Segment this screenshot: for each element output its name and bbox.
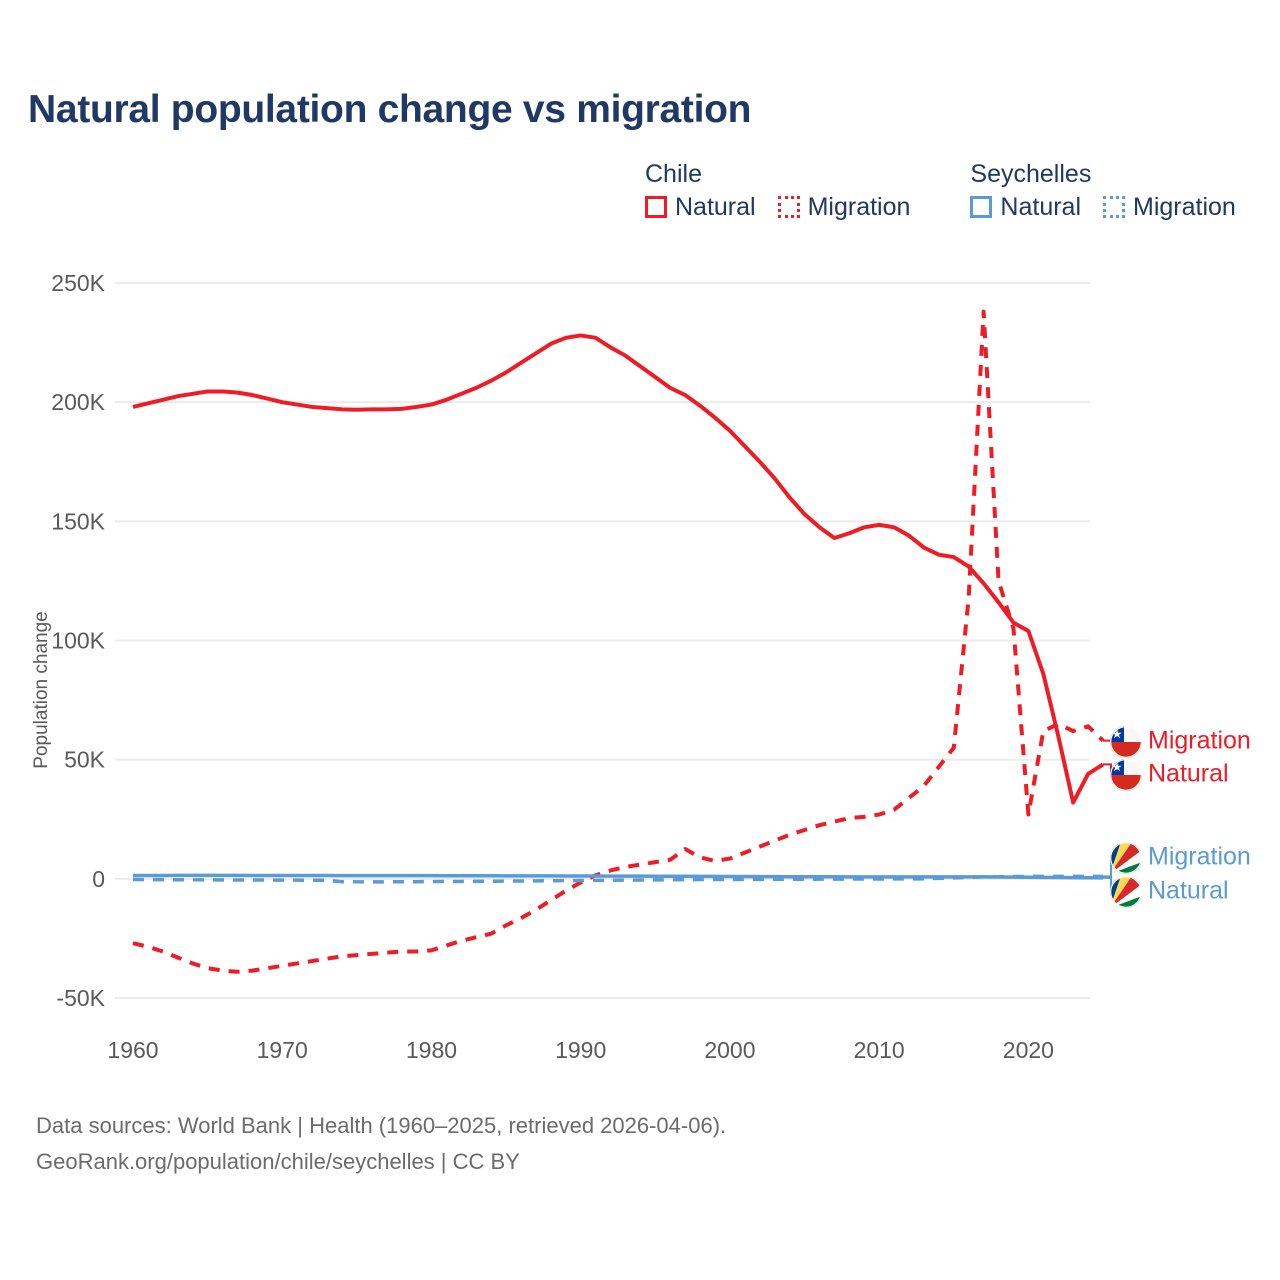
y-axis-tick-label: 250K bbox=[51, 270, 105, 296]
y-axis-title: Population change bbox=[31, 611, 52, 768]
y-axis-tick-label: 50K bbox=[64, 747, 106, 773]
series-lines bbox=[133, 312, 1103, 972]
end-label-text: Migration bbox=[1148, 843, 1251, 871]
chile-flag-icon bbox=[1110, 726, 1142, 758]
x-axis-tick-label: 1960 bbox=[107, 1037, 158, 1063]
plot-area: 250K200K150K100K50K0-50K 196019701980199… bbox=[0, 0, 1280, 1280]
series-line-chile-natural bbox=[133, 335, 1103, 802]
y-axis-tick-label: 150K bbox=[51, 508, 105, 534]
x-axis-tick-label: 1980 bbox=[406, 1037, 457, 1063]
seychelles-flag-icon bbox=[1110, 842, 1142, 874]
chile-flag-icon bbox=[1110, 759, 1142, 791]
end-label-connector bbox=[1103, 878, 1111, 892]
x-axis-tick-label: 1970 bbox=[257, 1037, 308, 1063]
x-axis-tick-label: 2010 bbox=[854, 1037, 905, 1063]
footer: Data sources: World Bank | Health (1960–… bbox=[36, 1108, 726, 1181]
gridlines bbox=[115, 283, 1090, 998]
footer-line-attribution: GeoRank.org/population/chile/seychelles … bbox=[36, 1144, 726, 1180]
end-label-connector bbox=[1103, 858, 1111, 876]
seychelles-flag-icon bbox=[1110, 876, 1142, 908]
end-label-text: Migration bbox=[1148, 727, 1251, 755]
y-axis-tick-label: 100K bbox=[51, 628, 105, 654]
y-axis-tick-label: 200K bbox=[51, 389, 105, 415]
chart-page: Natural population change vs migration C… bbox=[0, 0, 1280, 1280]
x-axis-tick-label: 2020 bbox=[1003, 1037, 1054, 1063]
x-axis-tick-labels: 1960197019801990200020102020 bbox=[107, 1037, 1054, 1063]
y-axis-tick-label: 0 bbox=[92, 866, 105, 892]
y-axis-tick-label: -50K bbox=[56, 985, 105, 1011]
end-label-connector bbox=[1103, 764, 1111, 775]
end-label-connector bbox=[1103, 741, 1111, 742]
end-label-text: Natural bbox=[1148, 760, 1229, 788]
series-end-labels: MigrationNaturalMigrationNatural bbox=[1103, 726, 1251, 908]
x-axis-tick-label: 1990 bbox=[555, 1037, 606, 1063]
series-line-chile-migration bbox=[133, 312, 1103, 972]
y-axis-tick-labels: 250K200K150K100K50K0-50K bbox=[51, 270, 105, 1011]
footer-line-sources: Data sources: World Bank | Health (1960–… bbox=[36, 1108, 726, 1144]
x-axis-tick-label: 2000 bbox=[704, 1037, 755, 1063]
end-label-text: Natural bbox=[1148, 877, 1229, 905]
